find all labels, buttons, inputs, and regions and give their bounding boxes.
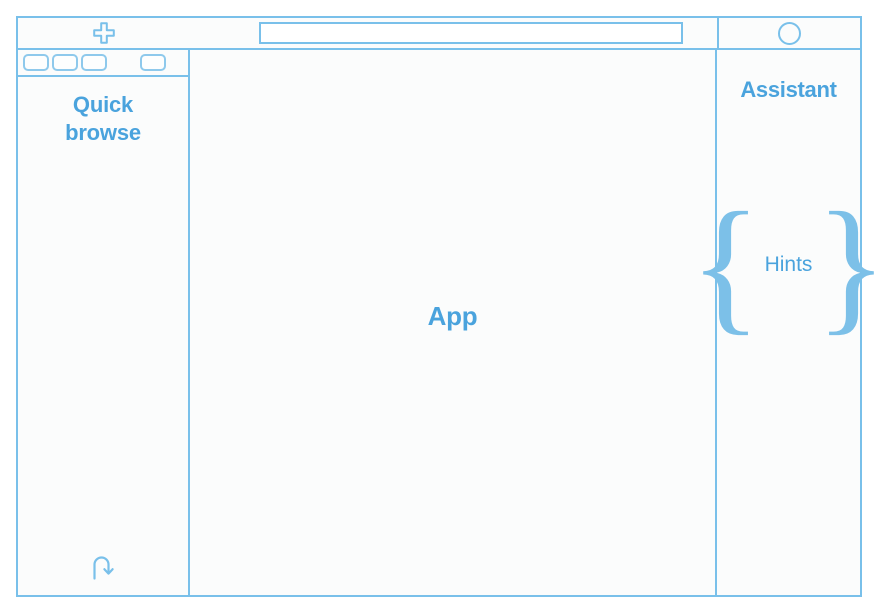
header-account-area xyxy=(717,18,860,48)
brace-right-icon: } xyxy=(815,204,879,327)
hints-block: { Hints } xyxy=(717,190,860,340)
header-add-area xyxy=(18,18,190,48)
quick-browse-sidebar: Quick browse xyxy=(18,50,190,595)
hints-label: Hints xyxy=(765,253,813,277)
app-label: App xyxy=(428,301,478,332)
brace-left-icon: { xyxy=(690,204,762,327)
plus-icon[interactable] xyxy=(92,21,116,45)
sidebar-toolbar xyxy=(18,50,188,77)
toolbar-button-2[interactable] xyxy=(52,54,78,71)
toolbar-button-4[interactable] xyxy=(140,54,166,71)
assistant-panel: Assistant { Hints } xyxy=(717,50,860,595)
u-turn-arrow-icon[interactable] xyxy=(88,553,118,581)
sidebar-footer xyxy=(18,553,188,581)
sidebar-title-line-2: browse xyxy=(65,120,141,145)
app-canvas[interactable]: App xyxy=(190,50,717,595)
toolbar-button-1[interactable] xyxy=(23,54,49,71)
sidebar-title: Quick browse xyxy=(18,91,188,147)
app-header xyxy=(18,18,860,50)
wireframe-window: Quick browse App Assistant xyxy=(16,16,862,597)
circle-avatar-icon[interactable] xyxy=(778,22,801,45)
header-search-area xyxy=(190,18,717,48)
toolbar-button-3[interactable] xyxy=(81,54,107,71)
search-input[interactable] xyxy=(259,22,683,44)
sidebar-content: Quick browse xyxy=(18,77,188,595)
window-body: Quick browse App Assistant xyxy=(18,50,860,595)
sidebar-title-line-1: Quick xyxy=(73,92,133,117)
assistant-title: Assistant xyxy=(717,50,860,103)
